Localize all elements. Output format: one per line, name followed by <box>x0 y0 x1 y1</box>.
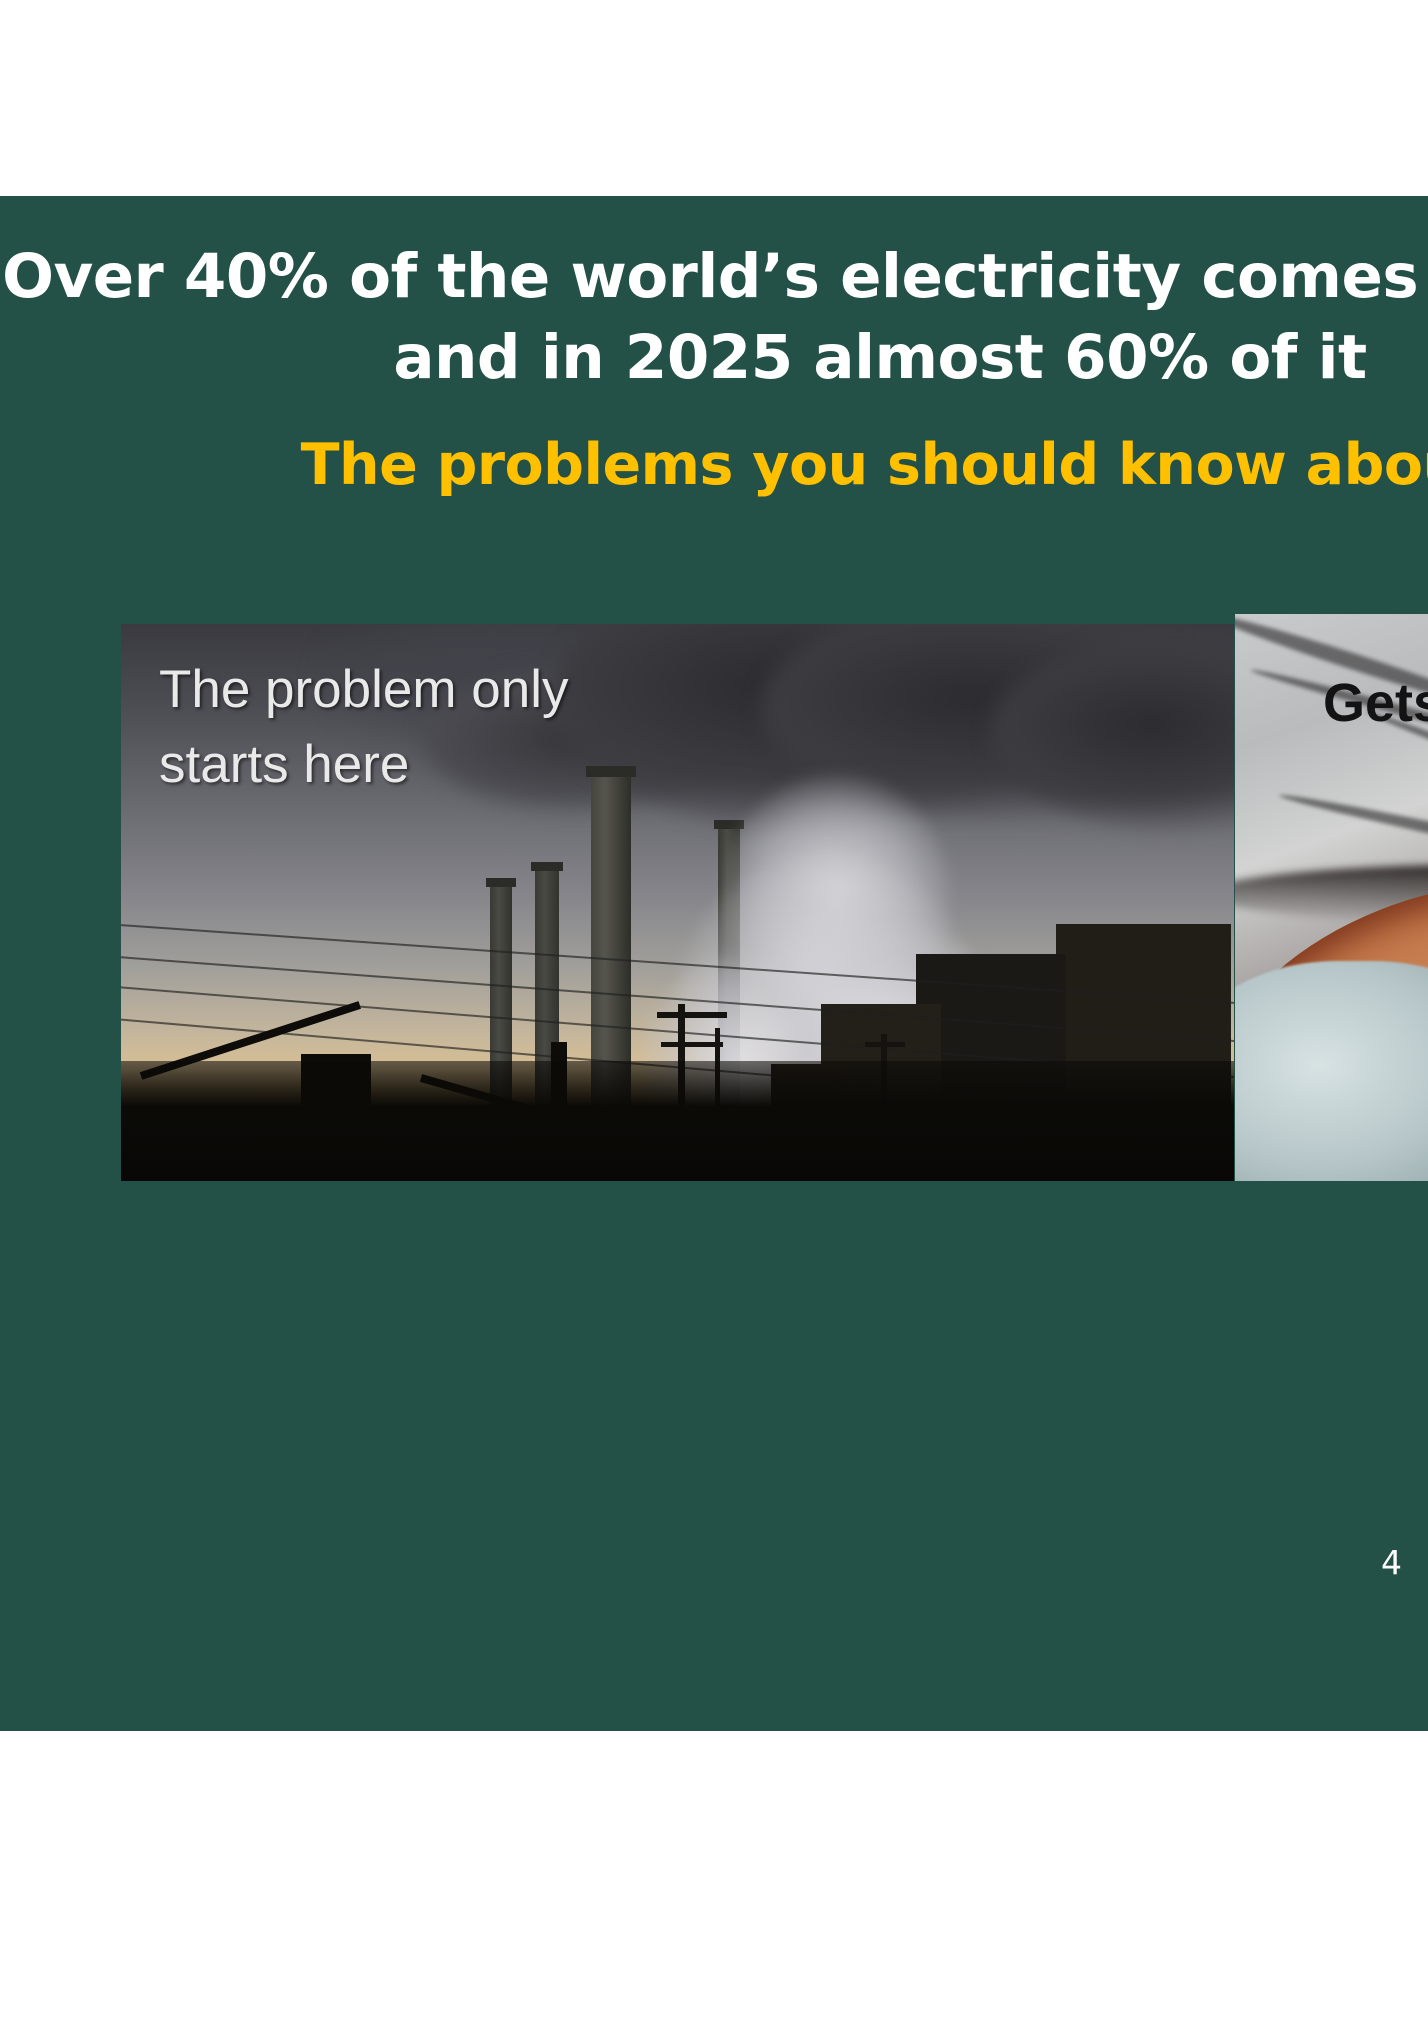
foreground-silhouette <box>121 1061 1234 1181</box>
chimney-cap <box>486 878 516 887</box>
photo-left-caption: The problem only starts here <box>159 652 568 803</box>
utility-pole-crossarm <box>657 1012 727 1018</box>
oiled-bird-photo: Gets worse here <box>1235 614 1428 1181</box>
slide-headline: Over 40% of the world’s electricity come… <box>0 236 1428 398</box>
coal-power-station-photo: The problem only starts here <box>121 624 1234 1181</box>
slide-number: 4 <box>1381 1543 1402 1582</box>
headline-line-1: Over 40% of the world’s electricity come… <box>0 236 1428 317</box>
utility-pole-crossarm <box>661 1042 723 1047</box>
slide-canvas: Over 40% of the world’s electricity come… <box>0 196 1428 1731</box>
headline-line-2: and in 2025 almost 60% of it <box>0 317 1428 398</box>
photo-right-caption: Gets worse here <box>1323 670 1428 738</box>
chimney-cap <box>586 766 636 777</box>
slide-subheadline: The problems you should know about <box>0 431 1428 499</box>
ice-shelf <box>1235 961 1428 1181</box>
chimney-cap <box>531 862 563 871</box>
